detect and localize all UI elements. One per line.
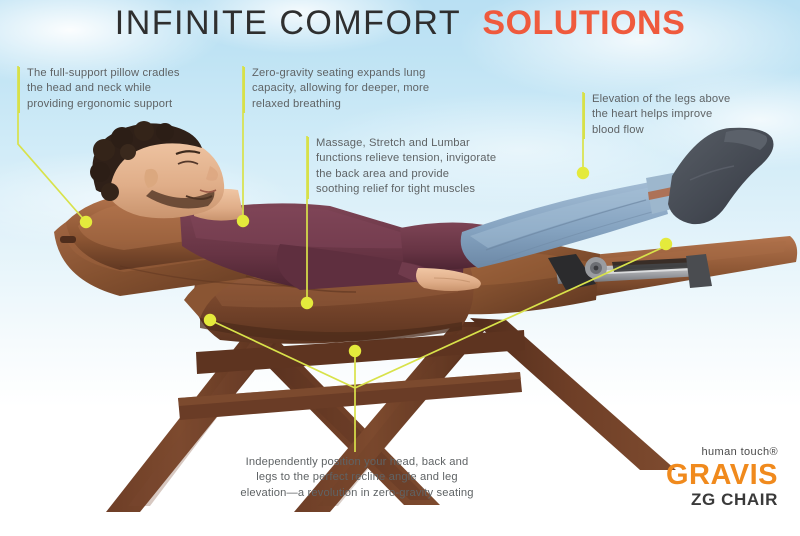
brand-logo: human touch® GRAVIS ZG CHAIR xyxy=(666,447,778,508)
callout-pillow: The full-support pillow cradles the head… xyxy=(27,66,217,112)
dot-pillow xyxy=(80,216,92,228)
dot-massage xyxy=(301,297,313,309)
product-name: GRAVIS xyxy=(666,461,778,490)
product-model: ZG CHAIR xyxy=(666,491,778,508)
callout-accent-bar xyxy=(307,137,309,199)
title-accent: SOLUTIONS xyxy=(482,4,685,42)
callout-independent-line1: Independently position your head, back a… xyxy=(228,455,486,470)
callout-independent-line2: legs to the perfect recline angle and le… xyxy=(228,470,486,485)
dot-leg-elevation xyxy=(577,167,589,179)
callout-accent-bar xyxy=(583,93,585,139)
callout-leg-elevation-line1: Elevation of the legs above xyxy=(592,92,772,107)
callout-accent-bar xyxy=(18,67,20,113)
callout-accent-bar xyxy=(243,67,245,113)
callout-independent-position: Independently position your head, back a… xyxy=(228,455,486,501)
brand-name: human touch® xyxy=(666,447,778,458)
callout-independent-line3: elevation—a revolution in zero-gravity s… xyxy=(228,486,486,501)
callout-zero-gravity-line2: capacity, allowing for deeper, more xyxy=(252,81,458,96)
callout-pillow-line1: The full-support pillow cradles xyxy=(27,66,217,81)
leader-independent-v xyxy=(210,246,666,388)
dot-recline-legrest xyxy=(660,238,672,250)
dot-recline-base xyxy=(349,345,361,357)
callout-leg-elevation: Elevation of the legs above the heart he… xyxy=(592,92,772,138)
callout-massage-line1: Massage, Stretch and Lumbar xyxy=(316,136,522,151)
callout-pillow-line2: the head and neck while xyxy=(27,81,217,96)
callout-massage-line3: the back area and provide xyxy=(316,167,522,182)
callout-zero-gravity-line1: Zero-gravity seating expands lung xyxy=(252,66,458,81)
title-light: INFINITE COMFORT xyxy=(115,4,461,42)
dot-zero-gravity xyxy=(237,215,249,227)
callout-zero-gravity-line3: relaxed breathing xyxy=(252,97,458,112)
callout-massage-line2: functions relieve tension, invigorate xyxy=(316,151,522,166)
callout-leg-elevation-line2: the heart helps improve xyxy=(592,107,772,122)
callout-massage: Massage, Stretch and Lumbar functions re… xyxy=(316,136,522,198)
callout-massage-line4: soothing relief for tight muscles xyxy=(316,182,522,197)
infographic-canvas: INFINITE COMFORT SOLUTIONS The full-supp… xyxy=(0,0,800,536)
dot-recline-seat xyxy=(204,314,216,326)
callout-zero-gravity: Zero-gravity seating expands lung capaci… xyxy=(252,66,458,112)
callout-leg-elevation-line3: blood flow xyxy=(592,123,772,138)
page-title: INFINITE COMFORT SOLUTIONS xyxy=(0,4,800,43)
callout-pillow-line3: providing ergonomic support xyxy=(27,97,217,112)
